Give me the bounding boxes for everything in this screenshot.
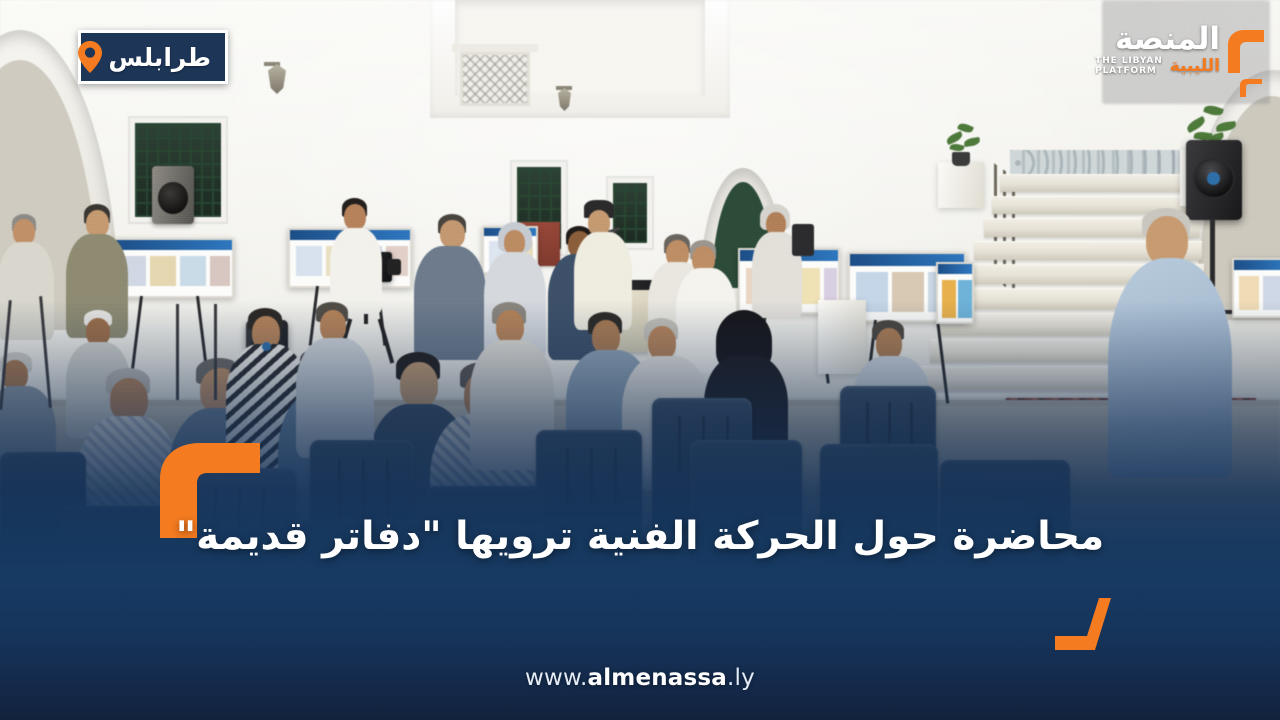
location-badge: طرابلس: [78, 30, 228, 84]
logo-hook-icon: [1224, 29, 1264, 73]
brand-logo: المنصة THE LIBYAN PLATFORM الليبية: [1078, 10, 1264, 92]
url-prefix: www.: [525, 665, 587, 691]
headline-text: محاضرة حول الحركة الفنية ترويها "دفاتر ق…: [0, 514, 1280, 560]
logo-arabic-primary: المنصة: [1115, 25, 1220, 55]
logo-english-name: THE LIBYAN PLATFORM: [1095, 56, 1163, 77]
location-label: طرابلس: [108, 45, 211, 70]
website-url: www.almenassa.ly: [0, 665, 1280, 691]
logo-english-line2: PLATFORM: [1095, 66, 1163, 77]
social-media-card: طرابلس المنصة THE LIBYAN PLATFORM الليبي…: [0, 0, 1280, 720]
logo-arabic-secondary: الليبية: [1170, 58, 1220, 75]
url-tld: .ly: [727, 665, 755, 691]
logo-hook-small-icon: [1238, 77, 1262, 97]
exhibit-board: [112, 238, 234, 298]
logo-english-line1: THE LIBYAN: [1095, 56, 1163, 67]
map-pin-icon: [78, 41, 102, 73]
url-domain-name: almenassa: [587, 665, 727, 691]
orange-check-mark-icon: [1055, 598, 1127, 650]
